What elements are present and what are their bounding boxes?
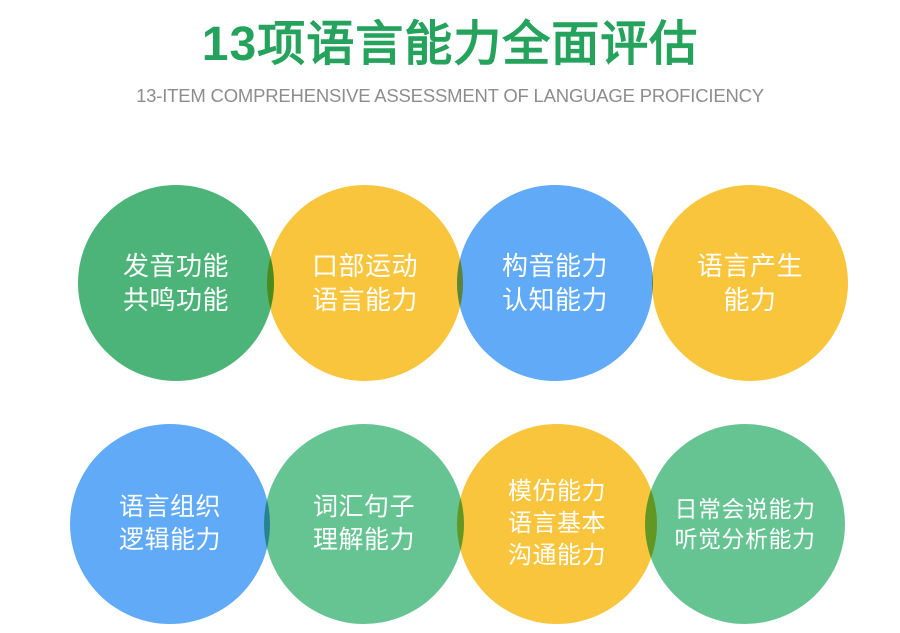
circle-item: 语言组织 逻辑能力 xyxy=(70,424,270,624)
circle-item: 模仿能力 语言基本 沟通能力 xyxy=(457,424,657,624)
circle-label: 构音能力 认知能力 xyxy=(502,249,608,318)
infographic-poster: 13项语言能力全面评估 13-ITEM COMPREHENSIVE ASSESS… xyxy=(0,0,900,633)
circle-label: 模仿能力 语言基本 沟通能力 xyxy=(508,476,606,571)
circle-label: 词汇句子 理解能力 xyxy=(313,491,415,557)
circle-item: 词汇句子 理解能力 xyxy=(264,424,464,624)
circle-item: 发音功能 共鸣功能 xyxy=(78,185,274,381)
circle-item: 语言产生 能力 xyxy=(652,185,848,381)
circle-label: 语言产生 能力 xyxy=(697,249,803,318)
circle-label: 发音功能 共鸣功能 xyxy=(123,249,229,318)
circle-item: 日常会说能力 听觉分析能力 xyxy=(645,424,845,624)
circle-label: 语言组织 逻辑能力 xyxy=(119,491,221,557)
circle-label: 口部运动 语言能力 xyxy=(312,249,418,318)
circle-item: 构音能力 认知能力 xyxy=(457,185,653,381)
circle-diagram: 发音功能 共鸣功能 口部运动 语言能力 构音能力 认知能力 语言产生 能力 语言… xyxy=(0,0,900,633)
circle-label: 日常会说能力 听觉分析能力 xyxy=(675,494,816,555)
circle-item: 口部运动 语言能力 xyxy=(267,185,463,381)
